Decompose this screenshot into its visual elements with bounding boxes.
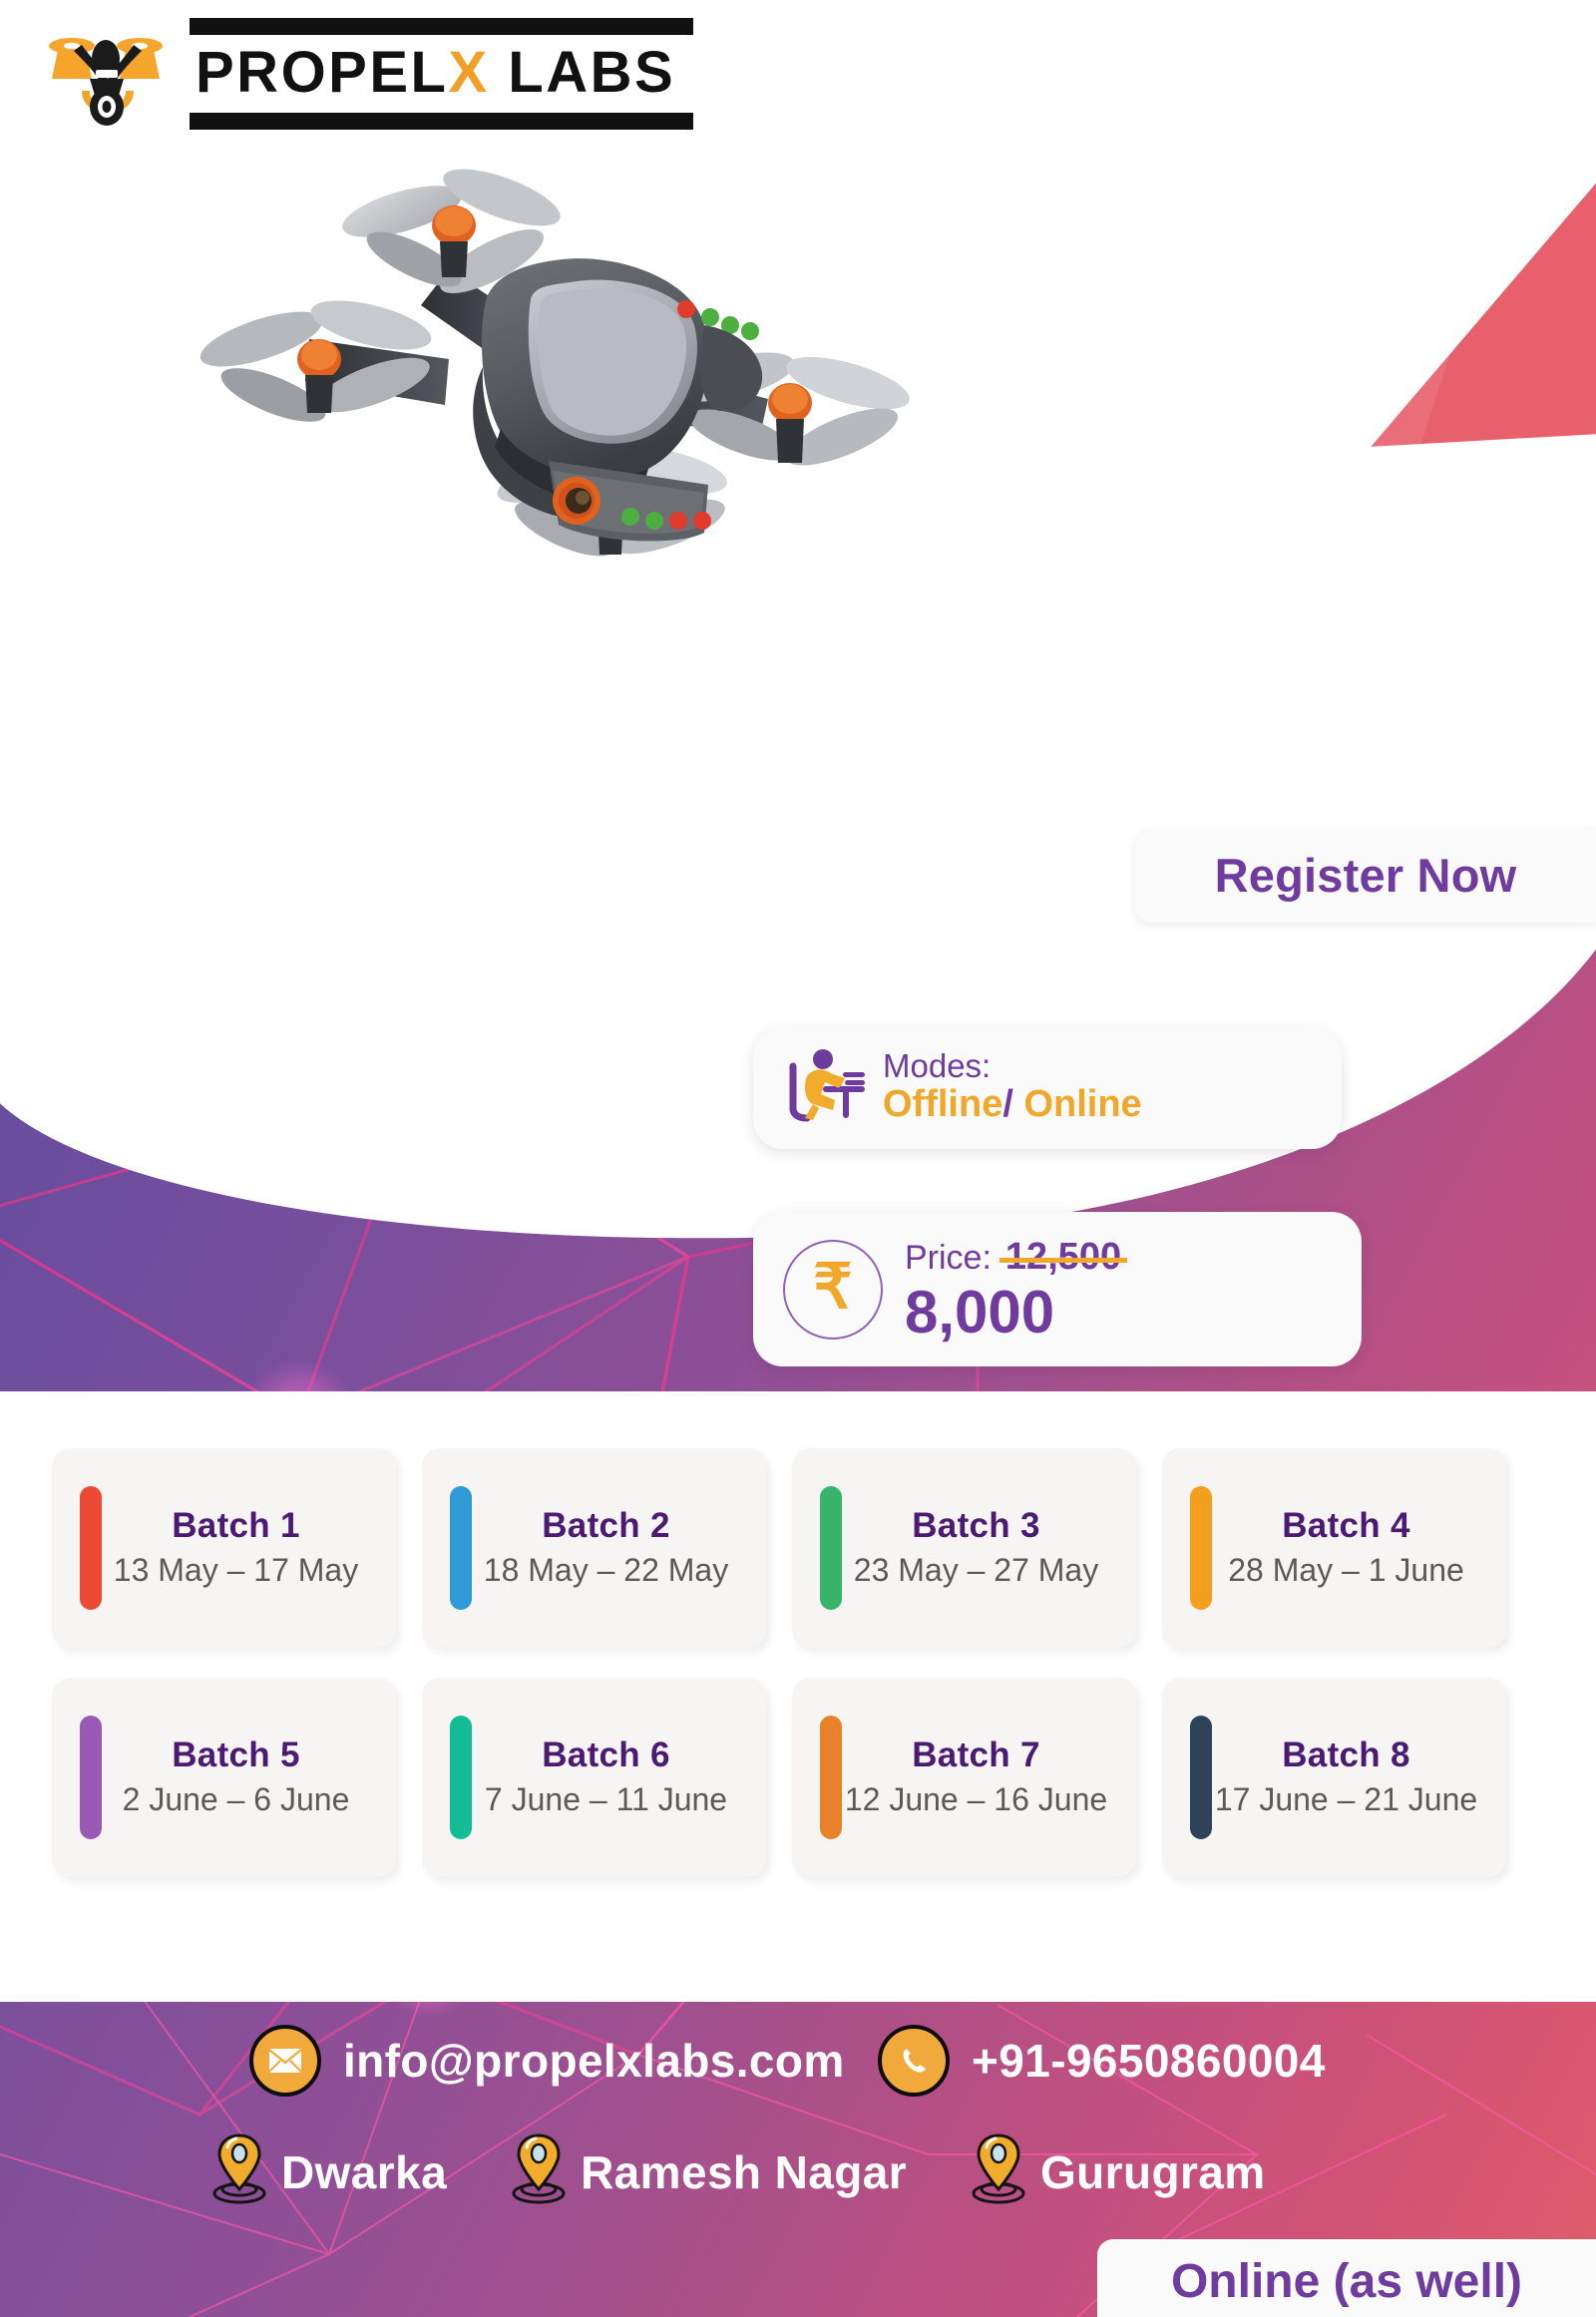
batch-card[interactable]: Batch 6 7 June – 11 June [422, 1678, 766, 1877]
logo-bar-bottom [190, 113, 693, 130]
batch-color-bar [80, 1716, 102, 1839]
brand-name-part2: LABS [490, 40, 676, 105]
location-name: Dwarka [281, 2145, 447, 2199]
location-item[interactable]: Ramesh Nagar [509, 2131, 907, 2212]
batch-name: Batch 2 [472, 1506, 740, 1546]
batch-text: Batch 7 12 June – 16 June [842, 1736, 1118, 1819]
price-label: Price: [905, 1239, 992, 1278]
modes-value: Offline/ Online [883, 1083, 1142, 1127]
batch-dates: 23 May – 27 May [842, 1550, 1110, 1590]
batch-color-bar [80, 1486, 102, 1610]
batch-name: Batch 8 [1212, 1736, 1480, 1775]
phone-icon [878, 2025, 950, 2097]
logo-bar-top [190, 18, 693, 35]
batch-name: Batch 7 [842, 1736, 1110, 1775]
batch-text: Batch 4 28 May – 1 June [1212, 1506, 1488, 1590]
phone-contact[interactable]: +91-9650860004 [878, 2025, 1326, 2097]
batch-card[interactable]: Batch 3 23 May – 27 May [792, 1448, 1136, 1648]
modes-label: Modes: [883, 1049, 1142, 1084]
page-title-line-1: DRONE [182, 997, 658, 1070]
batch-color-bar [1190, 1486, 1212, 1610]
batch-color-bar [450, 1716, 472, 1839]
page-title-line-2: SUMMER [182, 1070, 658, 1143]
page-title: DRONE SUMMER CAMP [182, 997, 658, 1217]
batch-card[interactable]: Batch 8 17 June – 21 June [1162, 1678, 1506, 1877]
online-badge-label: Online (as well) [1171, 2254, 1522, 2309]
batch-dates: 17 June – 21 June [1212, 1779, 1480, 1819]
batch-text: Batch 6 7 June – 11 June [472, 1736, 748, 1819]
brand-wordmark: PROPELX LABS [190, 18, 693, 130]
batch-name: Batch 4 [1212, 1506, 1480, 1546]
modes-text: Modes: Offline/ Online [883, 1049, 1142, 1127]
price-text: Price: 12,500 8,000 [905, 1236, 1121, 1344]
page-title-line-3: CAMP [182, 1144, 658, 1217]
batch-color-bar [1190, 1716, 1212, 1839]
batch-card[interactable]: Batch 4 28 May – 1 June [1162, 1448, 1506, 1648]
drone-logo-icon [48, 19, 168, 129]
brand-name: PROPELX LABS [190, 42, 693, 106]
locations-row: Dwarka Ramesh Nagar [209, 2131, 1312, 2212]
batch-text: Batch 3 23 May – 27 May [842, 1506, 1118, 1590]
brand-name-part1: PROPEL [196, 40, 449, 105]
batch-text: Batch 1 13 May – 17 May [102, 1506, 378, 1590]
batch-card[interactable]: Batch 2 18 May – 22 May [422, 1448, 766, 1648]
price-card: ₹ Price: 12,500 8,000 [753, 1212, 1362, 1366]
envelope-icon [249, 2025, 321, 2097]
batch-card[interactable]: Batch 1 13 May – 17 May [52, 1448, 396, 1648]
mode-separator: / [1002, 1083, 1013, 1125]
location-name: Gurugram [1040, 2145, 1266, 2199]
batch-dates: 18 May – 22 May [472, 1550, 740, 1590]
price-discounted: 8,000 [905, 1281, 1121, 1344]
brand-name-x: X [449, 40, 490, 105]
register-now-label: Register Now [1215, 848, 1517, 903]
mode-online: Online [1013, 1083, 1142, 1125]
phone-text: +91-9650860004 [972, 2034, 1326, 2088]
map-pin-icon [509, 2131, 569, 2212]
online-availability-badge: Online (as well) [1097, 2239, 1596, 2317]
rupee-icon: ₹ [783, 1240, 883, 1340]
batch-name: Batch 1 [102, 1506, 370, 1546]
location-item[interactable]: Dwarka [209, 2131, 447, 2212]
batch-text: Batch 8 17 June – 21 June [1212, 1736, 1488, 1819]
brand-logo: PROPELX LABS [48, 18, 693, 130]
price-original-row: Price: 12,500 [905, 1236, 1121, 1279]
email-contact[interactable]: info@propelxlabs.com [249, 2025, 845, 2097]
price-original: 12,500 [1005, 1236, 1121, 1279]
batch-dates: 28 May – 1 June [1212, 1550, 1480, 1590]
footer: info@propelxlabs.com +91-9650860004 [0, 2002, 1596, 2317]
batch-dates: 7 June – 11 June [472, 1779, 740, 1819]
batch-dates: 12 June – 16 June [842, 1779, 1110, 1819]
batch-color-bar [820, 1486, 842, 1610]
batch-dates: 2 June – 6 June [102, 1779, 370, 1819]
student-at-desk-icon [783, 1046, 865, 1131]
batch-name: Batch 3 [842, 1506, 1110, 1546]
batch-text: Batch 2 18 May – 22 May [472, 1506, 748, 1590]
batch-dates: 13 May – 17 May [102, 1550, 370, 1590]
batch-text: Batch 5 2 June – 6 June [102, 1736, 378, 1819]
batch-name: Batch 6 [472, 1736, 740, 1775]
rupee-symbol: ₹ [813, 1257, 852, 1319]
batch-color-bar [820, 1716, 842, 1839]
location-item[interactable]: Gurugram [969, 2131, 1266, 2212]
map-pin-icon [209, 2131, 269, 2212]
batch-card[interactable]: Batch 7 12 June – 16 June [792, 1678, 1136, 1877]
drone-illustration [150, 130, 968, 588]
batch-card[interactable]: Batch 5 2 June – 6 June [52, 1678, 396, 1877]
modes-card: Modes: Offline/ Online [753, 1027, 1342, 1149]
location-name: Ramesh Nagar [581, 2145, 907, 2199]
batch-name: Batch 5 [102, 1736, 370, 1775]
mode-offline: Offline [883, 1083, 1002, 1125]
map-pin-icon [969, 2131, 1028, 2212]
register-now-button[interactable]: Register Now [1135, 828, 1596, 923]
email-text: info@propelxlabs.com [343, 2034, 845, 2088]
batch-color-bar [450, 1486, 472, 1610]
poster-root: PROPELX LABS [0, 0, 1596, 2317]
batch-grid: Batch 1 13 May – 17 May Batch 2 18 May –… [52, 1448, 1548, 1877]
